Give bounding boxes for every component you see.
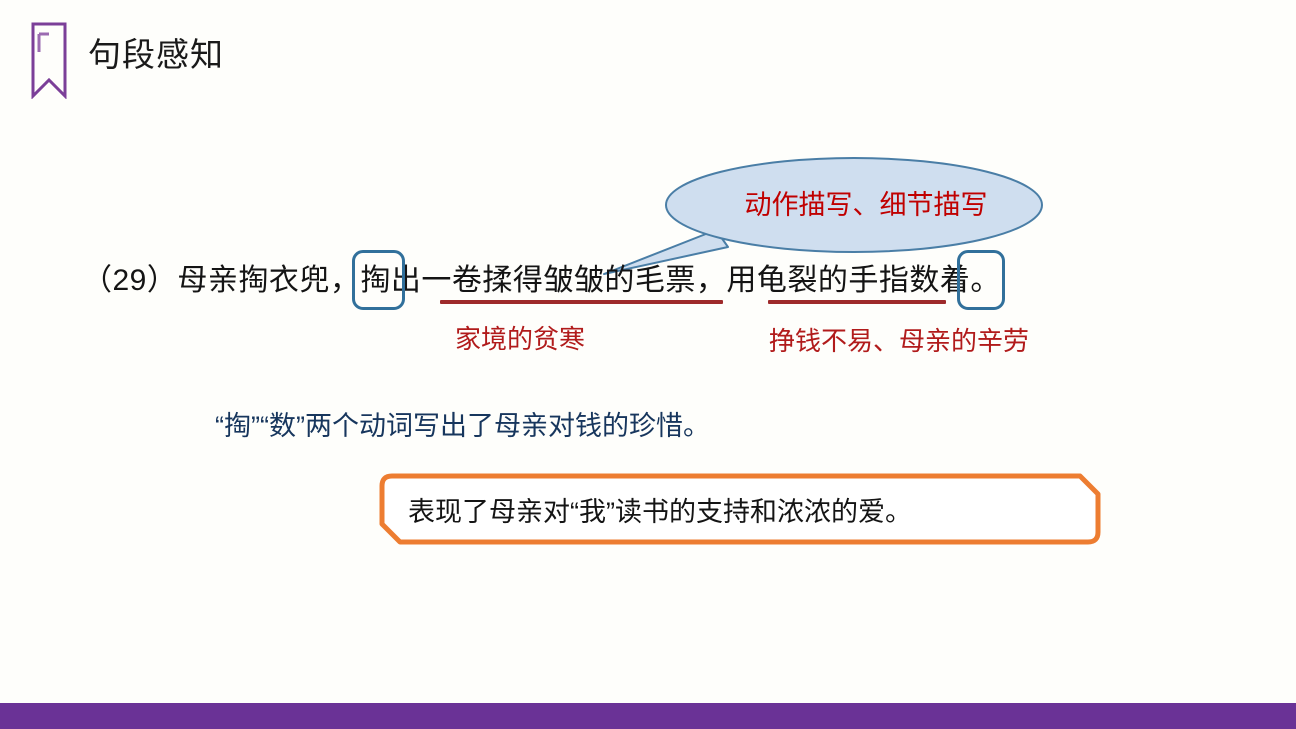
annotation-right: 挣钱不易、母亲的辛劳: [769, 324, 1029, 358]
underline-shou-zhi: [768, 300, 946, 304]
annotation-left: 家境的贫寒: [455, 322, 585, 356]
bottom-accent-bar: [0, 703, 1296, 729]
page-title: 句段感知: [88, 33, 224, 77]
underline-mao-piao: [440, 300, 723, 304]
conclusion-box: 表现了母亲对“我”读书的支持和浓浓的爱。: [378, 472, 1102, 546]
highlight-box-shu: [957, 250, 1005, 310]
bookmark-ribbon-icon: [30, 21, 68, 99]
highlight-box-tao: [352, 250, 405, 310]
conclusion-box-shape: [378, 472, 1102, 546]
sentence-text: （29）母亲掏衣兜，掏出一卷揉得皱皱的毛票，用龟裂的手指数着。: [82, 258, 1001, 304]
blue-explanation-note: “掏”“数”两个动词写出了母亲对钱的珍惜。: [215, 408, 710, 444]
slide-header: 句段感知: [0, 0, 1296, 120]
slide-canvas: 句段感知 动作描写、细节描写 （29）母亲掏衣兜，掏出一卷揉得皱皱的毛票，用龟裂…: [0, 0, 1296, 729]
